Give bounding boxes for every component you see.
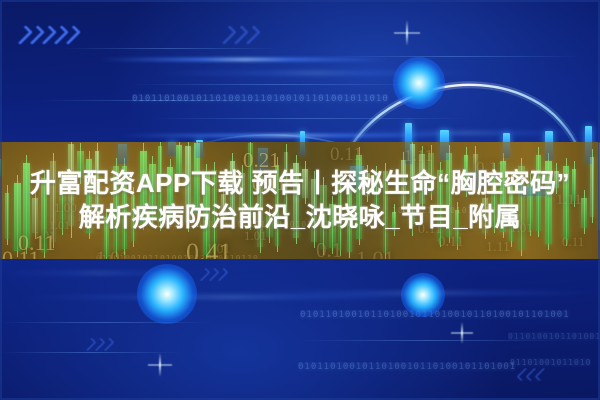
headline-line-2: 解析疾病防治前沿_沈晓咏_节目_附属	[0, 200, 600, 234]
banner-image: 0101101001011010010110100101101001011010…	[0, 0, 600, 400]
headline-block: 升富配资APP下载 预告丨探秘生命“胸腔密码” 解析疾病防治前沿_沈晓咏_节目_…	[0, 166, 600, 234]
headline-line-1: 升富配资APP下载 预告丨探秘生命“胸腔密码”	[0, 166, 600, 200]
